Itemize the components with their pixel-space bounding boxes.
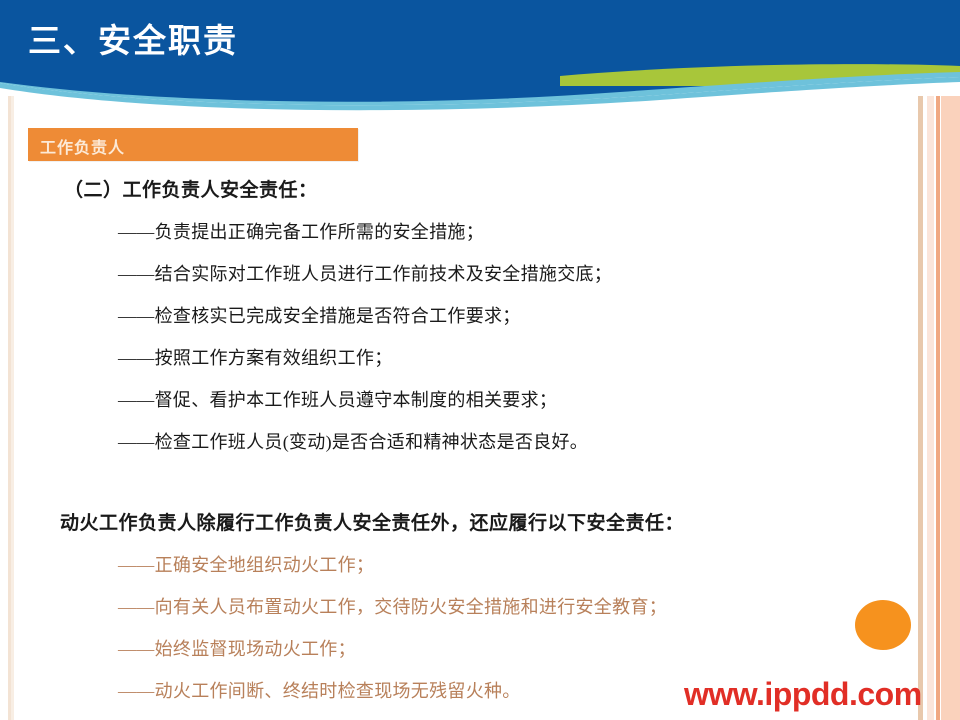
list-item: ——负责提出正确完备工作所需的安全措施； <box>0 218 900 244</box>
slide-canvas: 三、安全职责 工作负责人 （二）工作负责人安全责任： ——负责提出正确完备工作所… <box>0 0 960 720</box>
header-banner: 三、安全职责 <box>0 0 960 88</box>
list-item: ——按照工作方案有效组织工作； <box>0 344 900 370</box>
page-title: 三、安全职责 <box>28 14 238 62</box>
list-item: ——督促、看护本工作班人员遵守本制度的相关要求； <box>0 386 900 412</box>
list-item: ——始终监督现场动火工作； <box>0 635 900 661</box>
list-item: ——向有关人员布置动火工作，交待防火安全措施和进行安全教育； <box>0 593 900 619</box>
right-stripe-tan <box>918 96 923 720</box>
orange-circle-decoration <box>855 600 911 650</box>
right-stripe-salmon <box>936 96 940 720</box>
section-heading-1: （二）工作负责人安全责任： <box>0 175 900 202</box>
section-spacer <box>0 470 900 508</box>
slide-content: （二）工作负责人安全责任： ——负责提出正确完备工作所需的安全措施； ——结合实… <box>0 175 900 719</box>
right-stripe-peach <box>941 96 960 720</box>
right-stripe-light <box>927 96 934 720</box>
list-item: ——结合实际对工作班人员进行工作前技术及安全措施交底； <box>0 260 900 286</box>
list-item: ——正确安全地组织动火工作； <box>0 551 900 577</box>
section-label-text: 工作负责人 <box>40 134 125 158</box>
list-item: ——检查工作班人员(变动)是否合适和精神状态是否良好。 <box>0 428 900 454</box>
list-item: ——检查核实已完成安全措施是否符合工作要求； <box>0 302 900 328</box>
section-label-tab: 工作负责人 <box>28 128 358 161</box>
section-heading-2: 动火工作负责人除履行工作负责人安全责任外，还应履行以下安全责任： <box>0 508 900 535</box>
watermark-url: www.ippdd.com <box>684 676 922 713</box>
